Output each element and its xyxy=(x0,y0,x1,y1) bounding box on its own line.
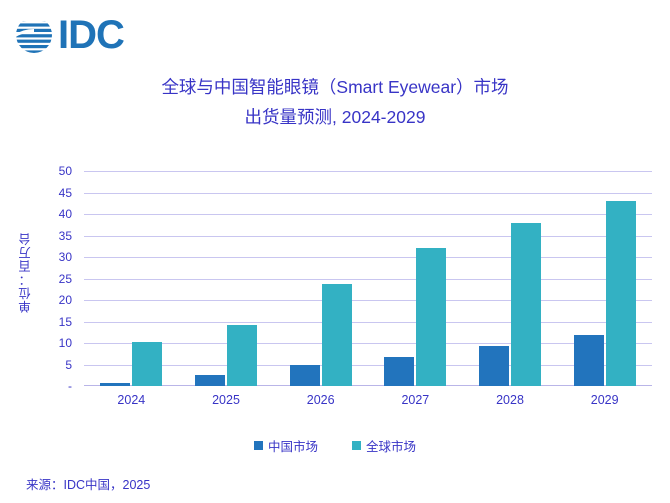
legend-label: 中国市场 xyxy=(268,436,318,455)
bar-global-2029 xyxy=(606,201,636,386)
x-tick-label: 2024 xyxy=(84,393,179,407)
y-axis-ticks: 5045403530252015105- xyxy=(38,150,72,395)
plot-area xyxy=(84,171,652,386)
x-tick-label: 2029 xyxy=(557,393,652,407)
chart-legend: 中国市场全球市场 xyxy=(0,436,670,455)
legend-label: 全球市场 xyxy=(366,436,416,455)
bar-group xyxy=(368,171,463,386)
x-tick-label: 2026 xyxy=(273,393,368,407)
legend-swatch-icon xyxy=(254,441,263,450)
bar-china-2027 xyxy=(384,357,414,386)
y-tick-label: 10 xyxy=(38,336,72,350)
idc-logo: IDC xyxy=(12,12,124,58)
y-tick-label: 40 xyxy=(38,207,72,221)
x-tick-label: 2025 xyxy=(179,393,274,407)
bar-group xyxy=(463,171,558,386)
bar-china-2028 xyxy=(479,346,509,386)
legend-swatch-icon xyxy=(352,441,361,450)
y-tick-label: 35 xyxy=(38,229,72,243)
y-tick-label: 50 xyxy=(38,164,72,178)
y-tick-label: 5 xyxy=(38,358,72,372)
bar-china-2024 xyxy=(100,383,130,386)
chart: 单位：百万台 5045403530252015105- 202420252026… xyxy=(0,150,670,420)
bar-global-2027 xyxy=(416,248,446,386)
y-tick-label: 45 xyxy=(38,186,72,200)
y-tick-label: 25 xyxy=(38,272,72,286)
bar-groups xyxy=(84,171,652,386)
striped-globe-icon xyxy=(12,13,56,57)
chart-title-line-2: 出货量预测, 2024-2029 xyxy=(0,102,670,132)
bar-china-2029 xyxy=(574,335,604,386)
y-tick-label: - xyxy=(38,379,72,393)
bar-global-2024 xyxy=(132,342,162,386)
x-axis-labels: 202420252026202720282029 xyxy=(84,393,652,407)
bar-group xyxy=(557,171,652,386)
bar-group xyxy=(273,171,368,386)
bar-global-2028 xyxy=(511,223,541,386)
logo-wordmark: IDC xyxy=(58,15,124,55)
y-axis-title-label: 单位：百万台 xyxy=(16,232,35,313)
chart-title-line-1: 全球与中国智能眼镜（Smart Eyewear）市场 xyxy=(0,72,670,102)
bar-china-2026 xyxy=(290,365,320,387)
source-note: 来源：IDC中国，2025 xyxy=(26,474,150,493)
y-tick-label: 20 xyxy=(38,293,72,307)
bar-group xyxy=(179,171,274,386)
bar-group xyxy=(84,171,179,386)
bar-china-2025 xyxy=(195,375,225,386)
legend-item-global[interactable]: 全球市场 xyxy=(352,436,416,455)
x-tick-label: 2027 xyxy=(368,393,463,407)
legend-item-china[interactable]: 中国市场 xyxy=(254,436,318,455)
chart-title: 全球与中国智能眼镜（Smart Eyewear）市场 出货量预测, 2024-2… xyxy=(0,72,670,132)
bar-global-2026 xyxy=(322,284,352,386)
y-axis-title: 单位：百万台 xyxy=(14,150,36,395)
bar-global-2025 xyxy=(227,325,257,386)
y-tick-label: 15 xyxy=(38,315,72,329)
x-tick-label: 2028 xyxy=(463,393,558,407)
y-tick-label: 30 xyxy=(38,250,72,264)
